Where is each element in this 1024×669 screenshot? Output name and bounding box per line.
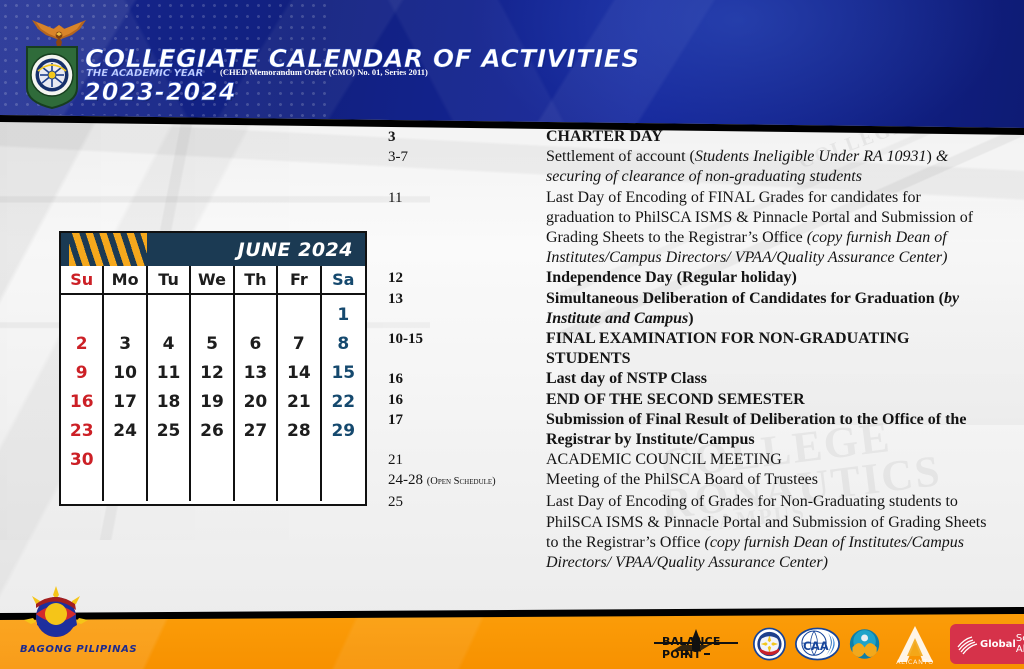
calendar-column-tuesday: 4111825: [148, 295, 191, 501]
calendar-column-thursday: 6132027: [235, 295, 278, 501]
calendar-cell-empty: [252, 446, 258, 475]
event-day: 3: [388, 127, 546, 147]
calendar-cell: 3: [119, 330, 131, 359]
day-header-fr: Fr: [278, 266, 321, 293]
calendar-cell-empty: [296, 301, 302, 330]
event-description: Simultaneous Deliberation of Candidates …: [546, 289, 988, 329]
calendar-cell: 5: [206, 330, 218, 359]
calendar-cell-empty: [340, 446, 346, 475]
day-header-we: We: [191, 266, 234, 293]
banner-cmo-note: (CHED Memorandum Order (CMO) No. 01, Ser…: [220, 67, 428, 77]
calendar-cell: 30: [70, 446, 94, 475]
event-description: Submission of Final Result of Deliberati…: [546, 410, 988, 450]
calendar-cell: 2: [76, 330, 88, 359]
day-header-sa: Sa: [322, 266, 365, 293]
event-row: 3-7Settlement of account (Students Ineli…: [388, 147, 988, 187]
calendar-cell: 26: [200, 417, 224, 446]
event-row: 17Submission of Final Result of Delibera…: [388, 410, 988, 450]
logo-alicanto-label: ALICANTO: [889, 658, 941, 666]
calendar-cell-empty: [166, 301, 172, 330]
calendar-cell: 17: [113, 388, 137, 417]
calendar-cell: 9: [76, 359, 88, 388]
bagong-pilipinas-logo-icon: [24, 586, 88, 642]
day-header-tu: Tu: [148, 266, 191, 293]
svg-text:CAA: CAA: [803, 640, 829, 653]
event-description: FINAL EXAMINATION FOR NON-GRADUATING STU…: [546, 329, 988, 369]
calendar-cell: 11: [157, 359, 181, 388]
calendar-cell: 21: [287, 388, 311, 417]
calendar-column-monday: 3101724: [104, 295, 147, 501]
gsa-line1: Global: [980, 639, 1016, 650]
event-row: 16END OF THE SECOND SEMESTER: [388, 390, 988, 410]
event-day: 25: [388, 492, 546, 512]
calendar-cell: 19: [200, 388, 224, 417]
event-row: 13Simultaneous Deliberation of Candidate…: [388, 289, 988, 329]
philsca-seal-icon: [24, 44, 80, 110]
event-row: 25Last Day of Encoding of Grades for Non…: [388, 492, 988, 573]
calendar-cell: 14: [287, 359, 311, 388]
event-day: 13: [388, 289, 546, 309]
calendar-cell: 6: [250, 330, 262, 359]
gsa-globe-icon: [956, 633, 978, 655]
event-day: 3-7: [388, 147, 546, 167]
event-row: 24-28 (Open Schedule)Meeting of the Phil…: [388, 470, 988, 492]
calendar-cell: 8: [337, 330, 349, 359]
calendar-column-wednesday: 5121926: [191, 295, 234, 501]
calendar-cell: 12: [200, 359, 224, 388]
calendar-column-saturday: 18152229: [322, 295, 365, 501]
calendar-cell: 22: [331, 388, 355, 417]
event-description: Meeting of the PhilSCA Board of Trustees: [546, 470, 988, 490]
event-row: 16Last day of NSTP Class: [388, 369, 988, 389]
event-day: 21: [388, 450, 546, 470]
gsa-line2: School Alliance: [1016, 633, 1024, 655]
calendar-cell-empty: [122, 446, 128, 475]
calendar-cell: 10: [113, 359, 137, 388]
event-row: 10-15FINAL EXAMINATION FOR NON-GRADUATIN…: [388, 329, 988, 369]
calendar-cell: 28: [287, 417, 311, 446]
event-description: Last Day of Encoding of FINAL Grades for…: [546, 188, 988, 269]
bagong-pilipinas-label: BAGONG PILIPINAS: [20, 644, 137, 655]
event-day: 10-15: [388, 329, 546, 349]
calendar-cell: 18: [157, 388, 181, 417]
calendar-grid: 29162330 3101724 4111825 5121926 6132027…: [61, 295, 365, 501]
calendar-cell: 7: [293, 330, 305, 359]
event-description: Independence Day (Regular holiday): [546, 268, 988, 288]
calendar-column-sunday: 29162330: [61, 295, 104, 501]
calendar-cell-empty: [209, 301, 215, 330]
event-description: Last Day of Encoding of Grades for Non-G…: [546, 492, 988, 573]
event-description: END OF THE SECOND SEMESTER: [546, 390, 988, 410]
calendar-cell: 25: [157, 417, 181, 446]
calendar-cell: 1: [337, 301, 349, 330]
calendar-cell: 23: [70, 417, 94, 446]
logo-philsca-seal: [753, 624, 786, 664]
event-description: CHARTER DAY: [546, 127, 988, 147]
day-header-su: Su: [61, 266, 104, 293]
event-day: 12: [388, 268, 546, 288]
calendar-cell: 13: [244, 359, 268, 388]
calendar-cell: 27: [244, 417, 268, 446]
calendar-month-title: JUNE 2024: [238, 239, 365, 261]
event-day-note: (Open Schedule): [427, 476, 496, 487]
calendar-cell-empty: [79, 301, 85, 330]
banner-academic-years: 2023-2024: [84, 78, 237, 106]
calendar-cell-empty: [296, 446, 302, 475]
calendar-cell-empty: [122, 301, 128, 330]
logo-alicanto: ALICANTO: [889, 624, 941, 664]
calendar-cell: 15: [331, 359, 355, 388]
logo-blue-globe: [849, 624, 880, 664]
event-day: 16: [388, 369, 546, 389]
logo-global-school-alliance: Global School Alliance MEMBER: [950, 624, 1024, 664]
event-row: 3CHARTER DAY: [388, 127, 988, 147]
events-list: 3CHARTER DAY3-7Settlement of account (St…: [388, 127, 988, 573]
calendar-cell: 29: [331, 417, 355, 446]
calendar-cell-empty: [209, 446, 215, 475]
event-row: 11Last Day of Encoding of FINAL Grades f…: [388, 188, 988, 269]
calendar-page: COLLEGE OF AERONAUTICS COLLEGE RONAUTICS…: [0, 0, 1024, 669]
calendar-stripes-decoration: [69, 233, 147, 266]
calendar-card: JUNE 2024 Su Mo Tu We Th Fr Sa 29162330 …: [59, 231, 367, 506]
event-day: 24-28 (Open Schedule): [388, 470, 546, 492]
event-description: Settlement of account (Students Ineligib…: [546, 147, 988, 187]
calendar-column-friday: 7142128: [278, 295, 321, 501]
event-day: 16: [388, 390, 546, 410]
day-header-mo: Mo: [104, 266, 147, 293]
event-day: 11: [388, 188, 546, 208]
logo-balance-point: BALANCE POINT: [648, 624, 744, 664]
partner-logos-row: BALANCE POINT CAA: [648, 624, 1024, 664]
event-row: 12Independence Day (Regular holiday): [388, 268, 988, 288]
calendar-day-headers: Su Mo Tu We Th Fr Sa: [61, 266, 365, 295]
calendar-cell: 24: [113, 417, 137, 446]
calendar-cell: 20: [244, 388, 268, 417]
calendar-cell: 4: [163, 330, 175, 359]
event-description: Last day of NSTP Class: [546, 369, 988, 389]
calendar-header: JUNE 2024: [61, 233, 365, 266]
day-header-th: Th: [235, 266, 278, 293]
event-day: 17: [388, 410, 546, 430]
event-description: ACADEMIC COUNCIL MEETING: [546, 450, 988, 470]
calendar-cell-empty: [166, 446, 172, 475]
event-row: 21ACADEMIC COUNCIL MEETING: [388, 450, 988, 470]
calendar-cell-empty: [252, 301, 258, 330]
logo-balance-point-label: BALANCE POINT: [662, 635, 744, 661]
calendar-cell: 16: [70, 388, 94, 417]
logo-caa: CAA: [795, 624, 840, 664]
